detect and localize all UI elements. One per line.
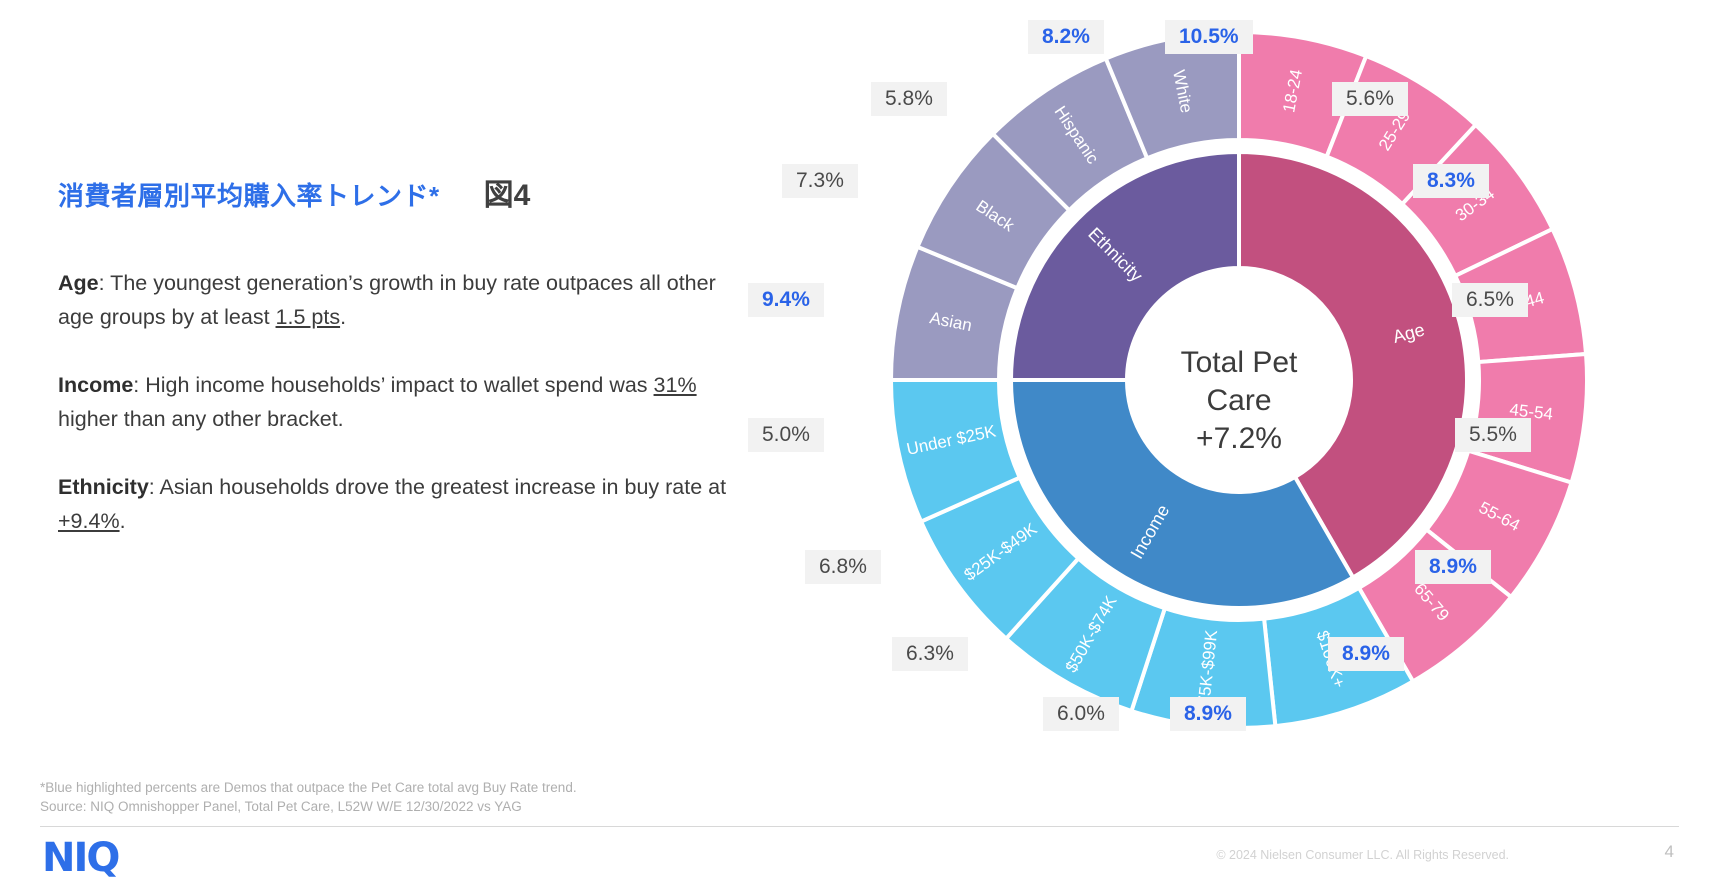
paragraph-ethnicity-text: : Asian households drove the greatest in… xyxy=(149,475,726,499)
paragraph-age-tail: . xyxy=(340,305,346,329)
paragraph-ethnicity-tail: . xyxy=(120,509,126,533)
paragraph-income-text: : High income households’ impact to wall… xyxy=(133,373,653,397)
page-number: 4 xyxy=(1665,842,1674,862)
paragraph-age-underline: 1.5 pts xyxy=(276,305,341,329)
paragraph-ethnicity-lead: Ethnicity xyxy=(58,475,149,499)
center-line-1: Total Pet xyxy=(1181,346,1298,379)
page-title: 消費者層別平均購入率トレンド* xyxy=(58,176,440,213)
value-chip-i25-49: 6.8% xyxy=(805,550,881,584)
center-line-2: Care xyxy=(1206,384,1271,417)
value-chip-black: 7.3% xyxy=(782,164,858,198)
copyright-text: © 2024 Nielsen Consumer LLC. All Rights … xyxy=(1216,848,1509,862)
value-chip-hispanic: 5.8% xyxy=(871,82,947,116)
title-row: 消費者層別平均購入率トレンド* 図4 xyxy=(58,170,758,214)
paragraph-income-underline: 31% xyxy=(654,373,697,397)
sunburst-chart: Age18-2425-2930-3435-4445-5455-6465-79In… xyxy=(760,0,1719,800)
value-chip-i75-99: 6.0% xyxy=(1043,697,1119,731)
footnote: *Blue highlighted percents are Demos tha… xyxy=(40,778,577,816)
footer-divider xyxy=(40,826,1679,827)
value-chip-a18-24: 10.5% xyxy=(1165,20,1253,54)
value-chip-a30-34: 8.3% xyxy=(1413,164,1489,198)
footnote-line-1: *Blue highlighted percents are Demos tha… xyxy=(40,778,577,797)
paragraph-income-lead: Income xyxy=(58,373,133,397)
body-paragraphs: Age: The youngest generation’s growth in… xyxy=(58,266,758,538)
paragraph-income-tail: higher than any other bracket. xyxy=(58,407,344,431)
text-panel: 消費者層別平均購入率トレンド* 図4 Age: The youngest gen… xyxy=(58,170,758,572)
value-chip-a55-64: 8.9% xyxy=(1415,550,1491,584)
paragraph-age: Age: The youngest generation’s growth in… xyxy=(58,266,748,334)
center-circle xyxy=(1129,270,1349,490)
center-line-3: +7.2% xyxy=(1196,422,1282,455)
niq-logo: NIQ xyxy=(42,835,118,881)
paragraph-ethnicity-underline: +9.4% xyxy=(58,509,120,533)
slide-root: 消費者層別平均購入率トレンド* 図4 Age: The youngest gen… xyxy=(0,0,1719,885)
value-chip-i100k: 8.9% xyxy=(1170,697,1246,731)
value-chip-a35-44: 6.5% xyxy=(1452,283,1528,317)
value-chip-a25-29: 5.6% xyxy=(1332,82,1408,116)
sunburst-center: Total Pet Care +7.2% xyxy=(1129,270,1349,490)
value-chip-a65-79: 8.9% xyxy=(1328,637,1404,671)
value-chip-asian: 9.4% xyxy=(748,283,824,317)
value-chip-a45-54: 5.5% xyxy=(1455,418,1531,452)
figure-label: 図4 xyxy=(484,170,531,214)
paragraph-ethnicity: Ethnicity: Asian households drove the gr… xyxy=(58,470,748,538)
value-chip-under25k: 5.0% xyxy=(748,418,824,452)
value-chip-white: 8.2% xyxy=(1028,20,1104,54)
paragraph-age-text: : The youngest generation’s growth in bu… xyxy=(58,271,716,329)
paragraph-income: Income: High income households’ impact t… xyxy=(58,368,748,436)
footnote-line-2: Source: NIQ Omnishopper Panel, Total Pet… xyxy=(40,797,577,816)
paragraph-age-lead: Age xyxy=(58,271,99,295)
value-chip-i50-74: 6.3% xyxy=(892,637,968,671)
